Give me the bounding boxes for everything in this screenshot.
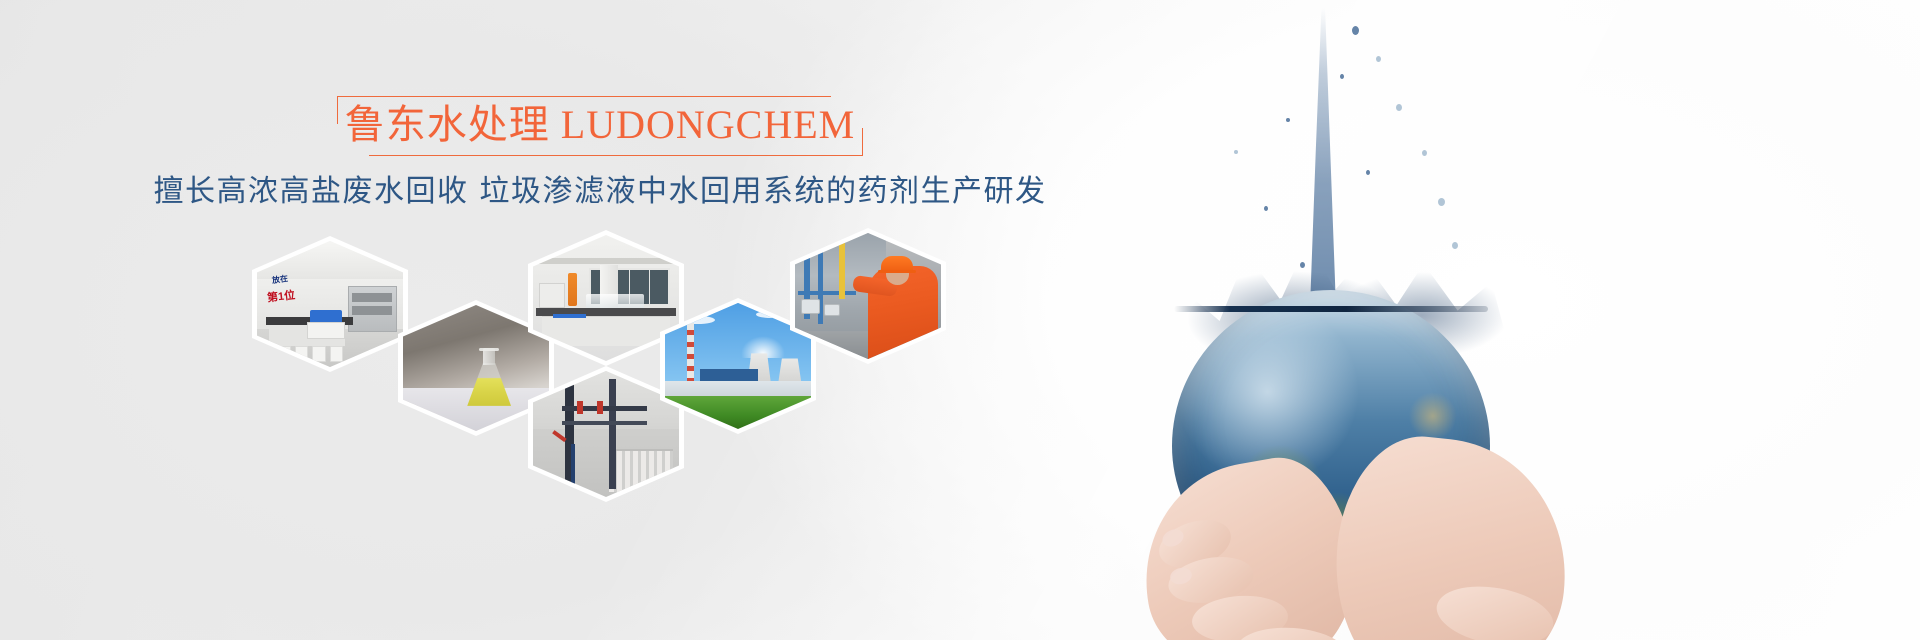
hexagon-laboratory-workbench-image bbox=[533, 235, 679, 361]
brand-title: 鲁东水处理 LUDONGCHEM bbox=[345, 102, 855, 148]
cupped-hands bbox=[1140, 430, 1560, 640]
hero-banner: 鲁东水处理 LUDONGCHEM 擅长高浓高盐废水回收 垃圾渗滤液中水回用系统的… bbox=[0, 0, 1920, 640]
wall-slogan: 放在 第1位 bbox=[267, 274, 331, 307]
hexagon-laboratory-room-image: 放在 第1位 bbox=[257, 241, 403, 367]
title-rule-bottom-icon bbox=[369, 155, 863, 156]
banner-text-block: 鲁东水处理 LUDONGCHEM 擅长高浓高盐废水回收 垃圾渗滤液中水回用系统的… bbox=[0, 96, 1200, 212]
hexagon-power-plant-image bbox=[665, 303, 811, 429]
hexagon-yellow-flask-image bbox=[403, 305, 549, 431]
brand-title-wrapper: 鲁东水处理 LUDONGCHEM bbox=[323, 96, 877, 156]
water-surface-line bbox=[1174, 306, 1488, 312]
hexagon-water-treatment-image bbox=[533, 371, 679, 497]
wall-slogan-line1: 放在 bbox=[272, 273, 289, 286]
wall-slogan-line2: 第1位 bbox=[266, 287, 296, 306]
hexagon-laboratory-room[interactable]: 放在 第1位 bbox=[252, 236, 408, 372]
banner-subtitle: 擅长高浓高盐废水回收 垃圾渗滤液中水回用系统的药剂生产研发 bbox=[0, 172, 1200, 212]
hexagon-worker-image bbox=[795, 233, 941, 359]
title-rule-top-icon bbox=[337, 96, 831, 97]
earth-globe-in-water bbox=[1140, 230, 1560, 630]
